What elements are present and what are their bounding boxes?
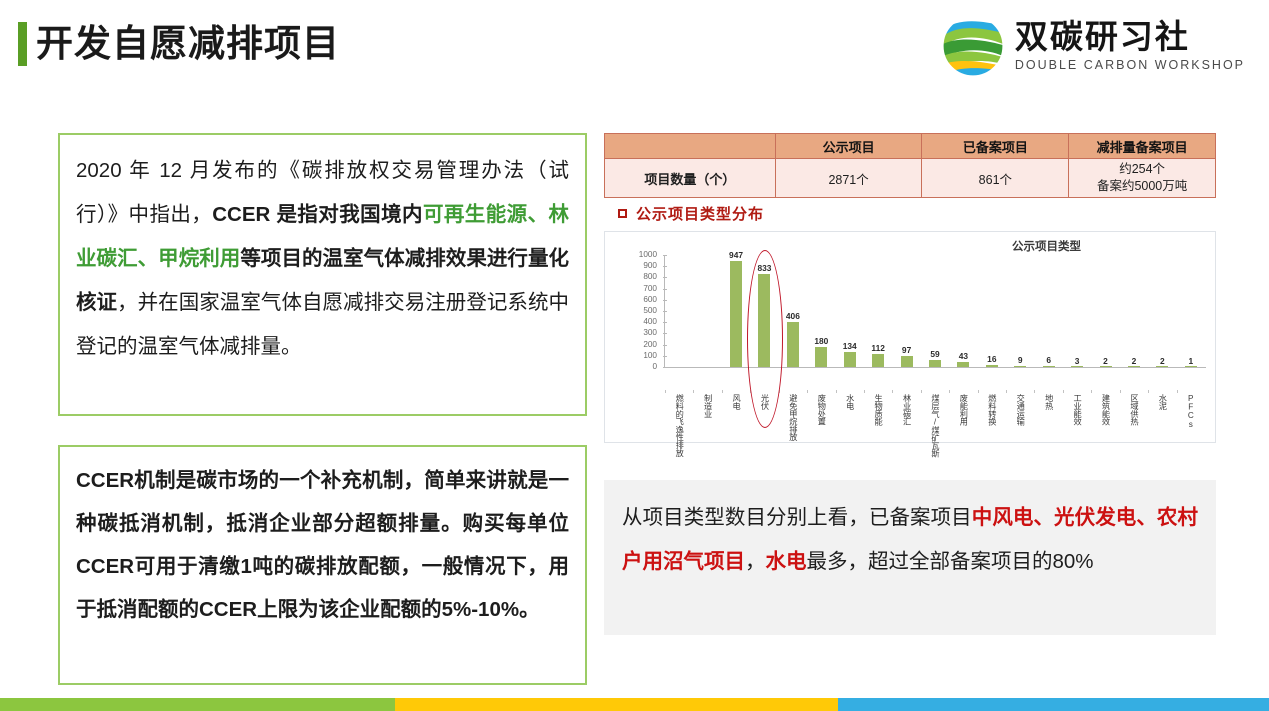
chart-x-tick-mark: [779, 390, 780, 393]
chart-x-tick-label: 工业能效: [1073, 394, 1081, 425]
chart-bar-value-label: 59: [919, 349, 951, 359]
chart-y-tick-label: 300: [617, 329, 657, 337]
note-seg-1: 从项目类型数目分别上看，已备案项目: [622, 506, 972, 529]
chart-section-heading-label: 公示项目类型分布: [636, 206, 764, 223]
brand-logo: 双碳研习社 DOUBLE CARBON WORKSHOP: [941, 10, 1245, 82]
definition-text-box: 2020 年 12 月发布的《碳排放权交易管理办法（试行）》中指出，CCER 是…: [58, 133, 587, 416]
chart-y-tick-mark: [663, 333, 667, 334]
definition-seg-5: ，并在国家温室气体自愿减排交易注册登记系统中登记的温室气体减排量。: [76, 291, 569, 358]
chart-x-tick-label: 区域供热: [1129, 394, 1137, 425]
chart-x-tick-label: 水泥: [1158, 394, 1166, 410]
chart-bar-value-label: 180: [805, 336, 837, 346]
chart-y-tick-label: 100: [617, 352, 657, 360]
chart-y-tick-label: 1000: [617, 251, 657, 259]
chart-bar: [1014, 366, 1026, 368]
chart-x-tick-label: 废能利用: [959, 394, 967, 425]
logo-title-cn: 双碳研习社: [1015, 19, 1245, 55]
chart-y-tick-mark: [663, 322, 667, 323]
chart-x-tick-mark: [1120, 390, 1121, 393]
note-seg-5: 最多，超过全部备案项目的80%: [807, 550, 1094, 573]
chart-bar-value-label: 2: [1118, 356, 1150, 366]
chart-x-tick-label: 风电: [732, 394, 740, 410]
chart-x-tick-mark: [864, 390, 865, 393]
definition-seg-2: CCER 是指对我国境内: [212, 203, 423, 226]
chart-y-tick-mark: [663, 289, 667, 290]
chart-bar-value-label: 134: [834, 341, 866, 351]
chart-bar: [1071, 366, 1083, 368]
chart-x-tick-label: 水电: [845, 394, 853, 410]
chart-bar-value-label: 1: [1175, 356, 1207, 366]
chart-bar-value-label: 406: [777, 311, 809, 321]
chart-x-tick-mark: [1063, 390, 1064, 393]
logo-text: 双碳研习社 DOUBLE CARBON WORKSHOP: [1015, 19, 1245, 73]
chart-bar-value-label: 833: [748, 263, 780, 273]
chart-x-tick-mark: [1034, 390, 1035, 393]
chart-y-tick-mark: [663, 356, 667, 357]
chart-x-tick-label: 制造业: [703, 394, 711, 417]
chart-y-tick-label: 500: [617, 307, 657, 315]
chart-y-tick-mark: [663, 255, 667, 256]
chart-x-tick-mark: [693, 390, 694, 393]
chart-y-tick-label: 700: [617, 285, 657, 293]
chart-y-tick-label: 800: [617, 273, 657, 281]
chart-x-tick-mark: [921, 390, 922, 393]
chart-bar-value-label: 2: [1146, 356, 1178, 366]
chart-y-tick-label: 600: [617, 296, 657, 304]
chart-bar-value-label: 97: [891, 345, 923, 355]
chart-x-tick-label: 交通运输: [1016, 394, 1024, 425]
footer-segment-3: [838, 698, 1269, 711]
chart-x-tick-mark: [836, 390, 837, 393]
table-header-registered: 已备案项目: [922, 134, 1069, 159]
chart-x-tick-label: 煤层气/煤矿瓦斯: [931, 394, 939, 457]
logo-globe-icon: [941, 14, 1005, 78]
footer-segment-1: [0, 698, 395, 711]
chart-x-tick-label: 避免甲烷排放: [788, 394, 796, 441]
chart-y-tick-mark: [663, 311, 667, 312]
chart-x-axis-line: [664, 367, 1206, 368]
footer-segment-2: [395, 698, 838, 711]
chart-x-tick-label: 林业碳汇: [902, 394, 910, 425]
chart-x-tick-mark: [978, 390, 979, 393]
mechanism-paragraph: CCER机制是碳市场的一个补充机制，简单来讲就是一种碳抵消机制，抵消企业部分超额…: [60, 447, 585, 631]
chart-bar-value-label: 2: [1090, 356, 1122, 366]
chart-title: 公示项目类型: [1012, 238, 1081, 254]
chart-bar: [730, 261, 742, 367]
chart-x-tick-label: 建筑能效: [1101, 394, 1109, 425]
table-header-reduction: 减排量备案项目: [1069, 134, 1216, 159]
chart-y-tick-mark: [663, 266, 667, 267]
note-seg-3: ，: [745, 550, 766, 573]
chart-bar-value-label: 112: [862, 343, 894, 353]
chart-plot-area: 燃料的飞逸性排放制造业947风电833光伏406避免甲烷排放180废物处置134…: [665, 255, 1205, 367]
chart-x-tick-mark: [1177, 390, 1178, 393]
table-row-label: 项目数量（个）: [605, 159, 776, 198]
chart-x-tick-mark: [1091, 390, 1092, 393]
chart-x-tick-label: PFCs: [1186, 394, 1194, 428]
chart-bar: [901, 356, 913, 367]
footer-color-bar: [0, 698, 1269, 711]
table-cell-reduction-count: 约254个 备案约5000万吨: [1069, 159, 1216, 198]
chart-bar: [787, 322, 799, 367]
chart-x-tick-label: 生物质能: [874, 394, 882, 425]
table-header-blank: [605, 134, 776, 159]
chart-x-tick-mark: [807, 390, 808, 393]
chart-x-tick-mark: [750, 390, 751, 393]
chart-x-tick-mark: [722, 390, 723, 393]
table-cell-registered-count: 861个: [922, 159, 1069, 198]
chart-bar-value-label: 6: [1033, 355, 1065, 365]
chart-bar-value-label: 43: [947, 351, 979, 361]
chart-x-tick-label: 燃料的飞逸性排放: [675, 394, 683, 456]
chart-x-tick-mark: [1148, 390, 1149, 393]
chart-y-tick-label: 400: [617, 318, 657, 326]
chart-section-heading: 公示项目类型分布: [618, 203, 764, 224]
chart-x-tick-mark: [892, 390, 893, 393]
chart-bar: [758, 274, 770, 367]
chart-x-tick-mark: [949, 390, 950, 393]
chart-y-tick-mark: [663, 277, 667, 278]
stats-table-container: 公示项目 已备案项目 减排量备案项目 项目数量（个） 2871个 861个 约2…: [604, 133, 1216, 198]
table-header-row: 公示项目 已备案项目 减排量备案项目: [605, 134, 1216, 159]
chart-x-tick-mark: [665, 390, 666, 393]
table-header-public: 公示项目: [775, 134, 922, 159]
definition-paragraph: 2020 年 12 月发布的《碳排放权交易管理办法（试行）》中指出，CCER 是…: [60, 135, 585, 369]
table-cell-reduction-line1: 约254个: [1070, 161, 1214, 178]
page-title: 开发自愿减排项目: [36, 18, 340, 70]
title-accent-bar: [18, 22, 27, 66]
chart-y-axis: 10009008007006005004003002001000: [621, 255, 663, 367]
chart-bar: [1043, 366, 1055, 368]
chart-y-tick-mark: [663, 367, 667, 368]
chart-x-tick-label: 废物处置: [817, 394, 825, 425]
logo-title-en: DOUBLE CARBON WORKSHOP: [1015, 57, 1245, 73]
square-bullet-icon: [618, 209, 627, 218]
chart-bar: [929, 360, 941, 367]
chart-bar-value-label: 3: [1061, 356, 1093, 366]
summary-note-box: 从项目类型数目分别上看，已备案项目中风电、光伏发电、农村户用沼气项目，水电最多，…: [604, 480, 1216, 635]
stats-table: 公示项目 已备案项目 减排量备案项目 项目数量（个） 2871个 861个 约2…: [604, 133, 1216, 198]
chart-bar-value-label: 16: [976, 354, 1008, 364]
chart-x-tick-label: 燃料转换: [987, 394, 995, 425]
mechanism-text-box: CCER机制是碳市场的一个补充机制，简单来讲就是一种碳抵消机制，抵消企业部分超额…: [58, 445, 587, 685]
chart-bar: [986, 365, 998, 367]
chart-bar: [815, 347, 827, 367]
summary-note-paragraph: 从项目类型数目分别上看，已备案项目中风电、光伏发电、农村户用沼气项目，水电最多，…: [604, 480, 1216, 584]
chart-y-tick-label: 200: [617, 341, 657, 349]
slide-header: 开发自愿减排项目: [0, 0, 1269, 100]
chart-y-tick-mark: [663, 345, 667, 346]
slide-root: 开发自愿减排项目: [0, 0, 1269, 711]
chart-bar: [872, 354, 884, 367]
chart-y-tick-label: 0: [617, 363, 657, 371]
table-cell-reduction-line2: 备案约5000万吨: [1070, 178, 1214, 195]
chart-bar: [957, 362, 969, 367]
chart-y-tick-label: 900: [617, 262, 657, 270]
chart-bar-value-label: 9: [1004, 355, 1036, 365]
chart-x-tick-label: 地热: [1044, 394, 1052, 410]
table-cell-public-count: 2871个: [775, 159, 922, 198]
table-row: 项目数量（个） 2871个 861个 约254个 备案约5000万吨: [605, 159, 1216, 198]
chart-frame: 公示项目类型 10009008007006005004003002001000 …: [604, 231, 1216, 443]
note-seg-red-2: 水电: [766, 550, 807, 573]
chart-x-tick-label: 光伏: [760, 394, 768, 410]
chart-bar-value-label: 947: [720, 250, 752, 260]
chart-x-tick-mark: [1006, 390, 1007, 393]
chart-y-tick-mark: [663, 300, 667, 301]
chart-bar: [844, 352, 856, 367]
